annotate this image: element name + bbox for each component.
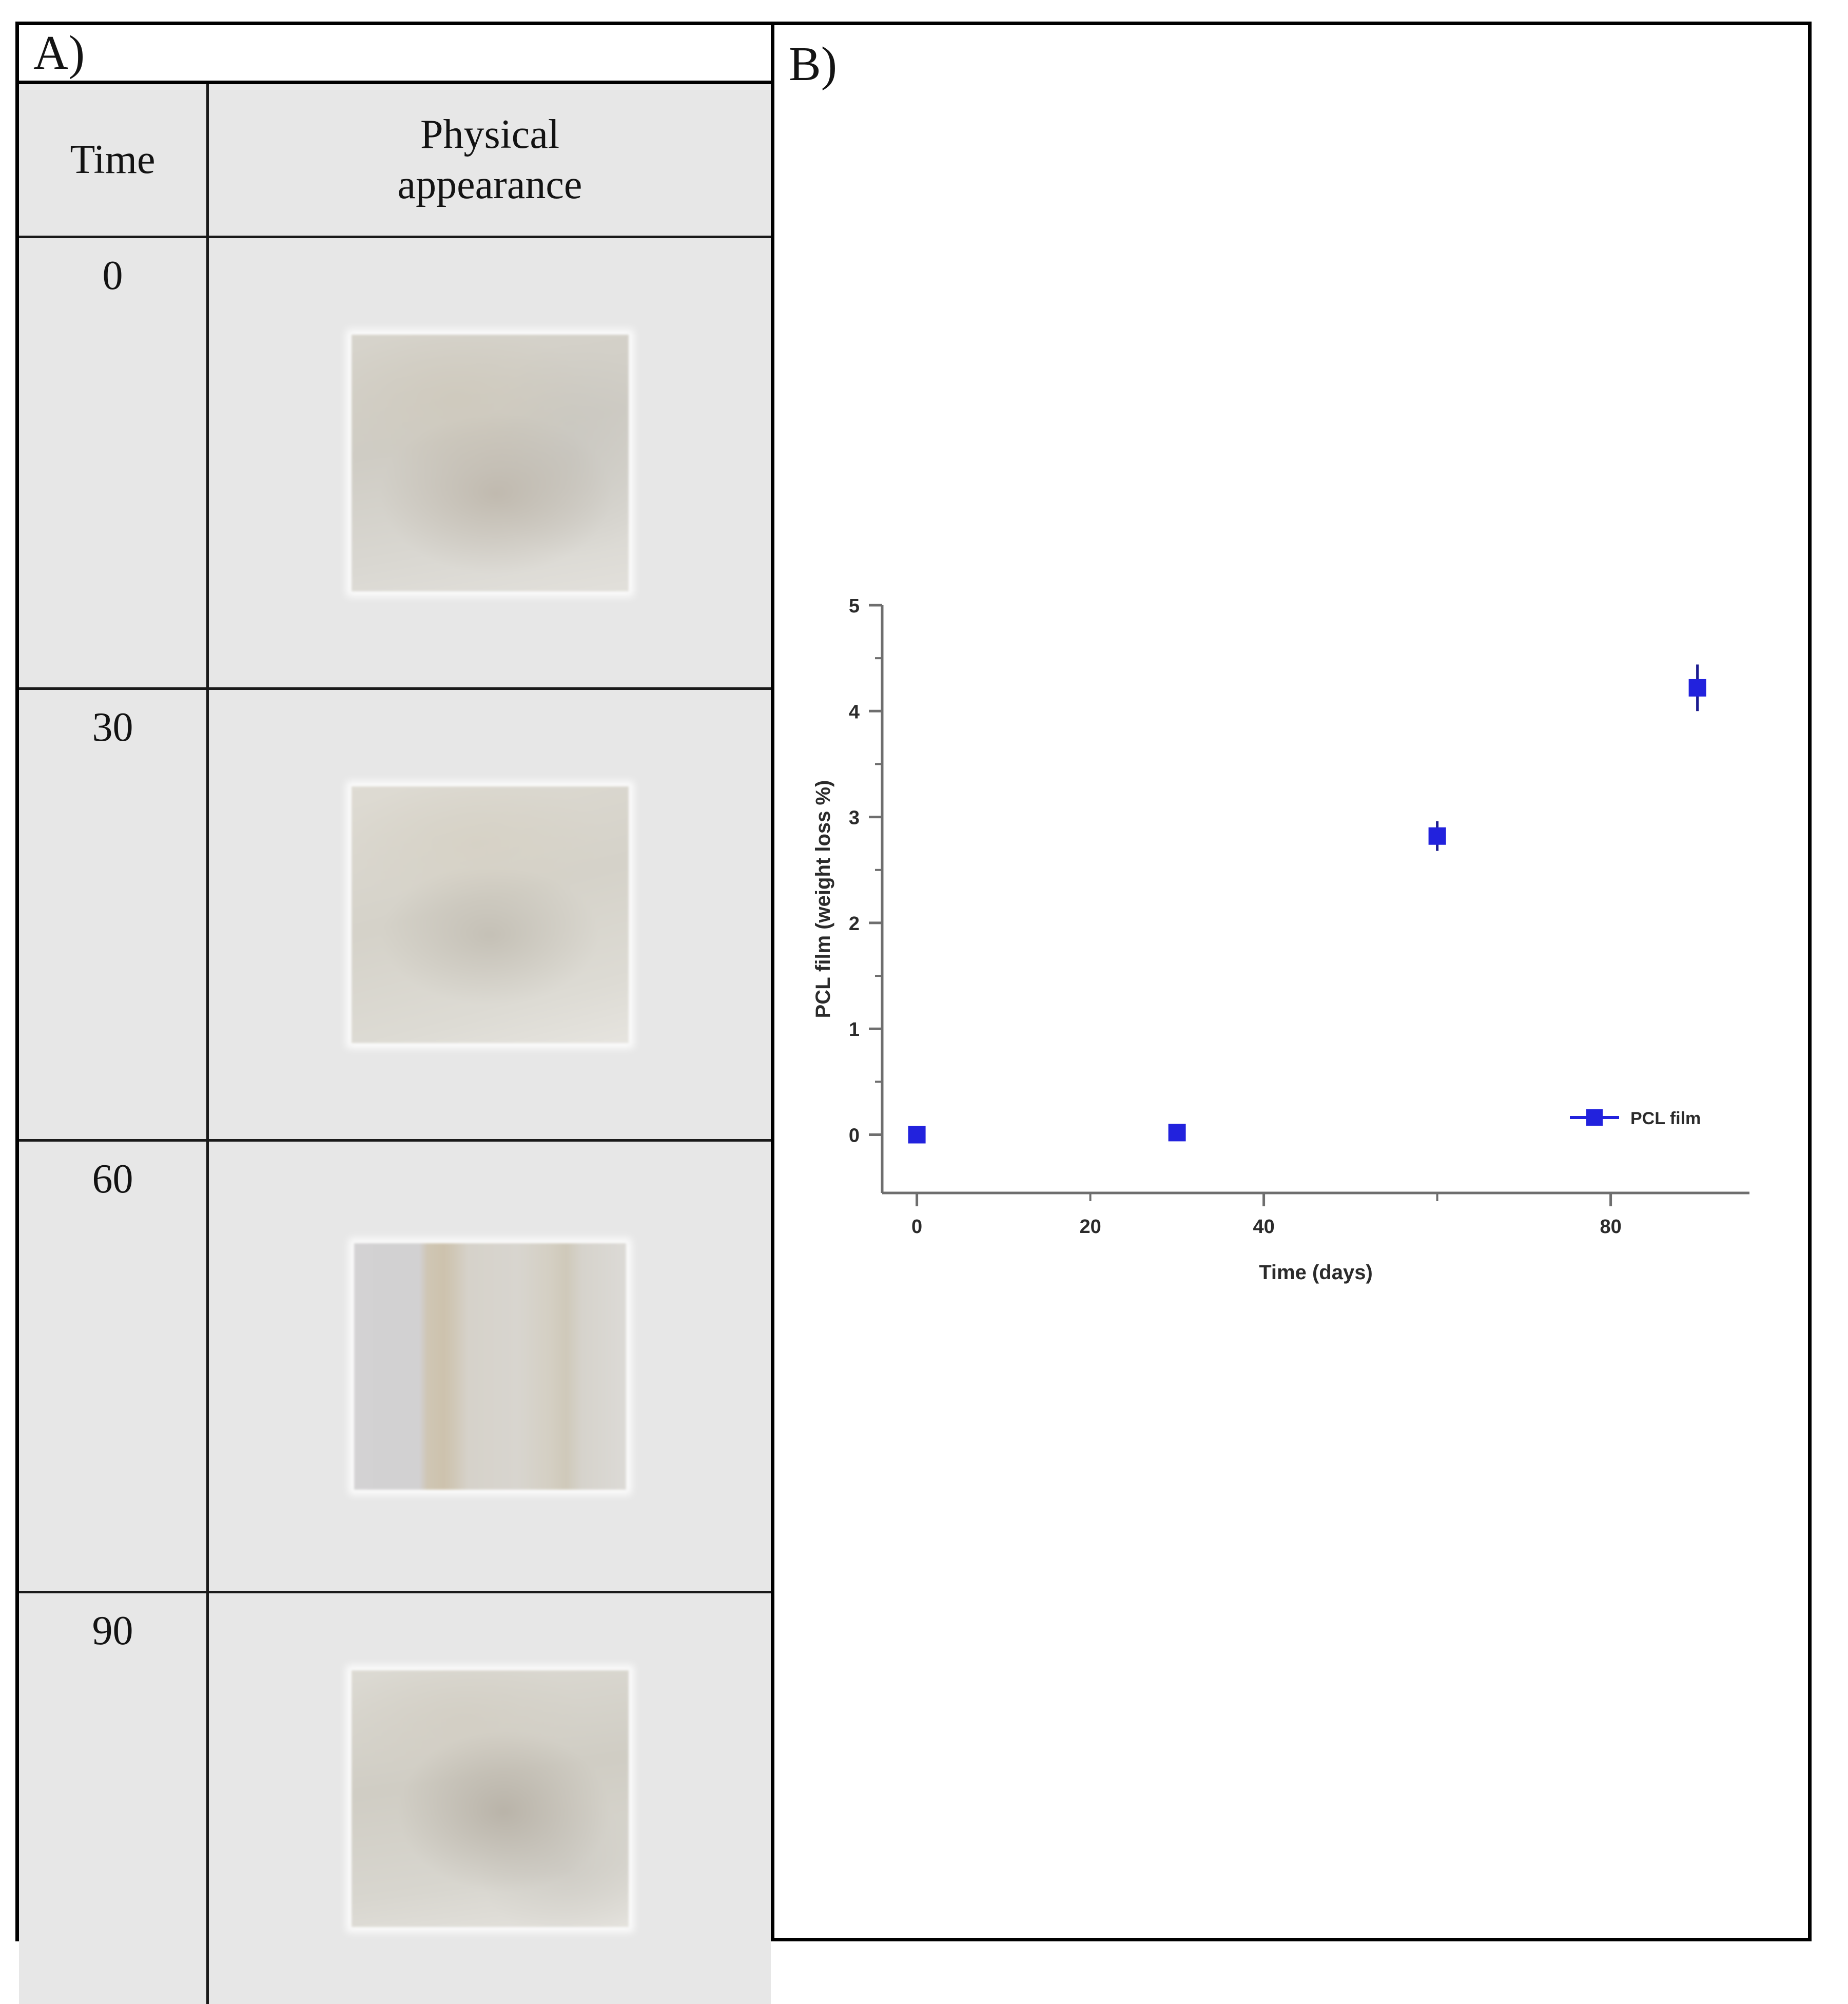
x-tick-label: 0 xyxy=(911,1216,922,1238)
table-row: 30 xyxy=(19,690,771,1142)
cell-time-value: 60 xyxy=(19,1142,209,1591)
cell-physical-appearance xyxy=(209,1593,771,2004)
table-row: 60 xyxy=(19,1142,771,1593)
panel-a: A) Time Physical appearance 0 30 xyxy=(19,25,774,1938)
physical-appearance-table: Time Physical appearance 0 30 60 xyxy=(19,84,771,2004)
table-row: 90 xyxy=(19,1593,771,2004)
chart-svg: 0123450204080Time (days)PCL film (weight… xyxy=(805,585,1765,1314)
pcl-film-photo-day-60 xyxy=(354,1243,626,1490)
data-point-marker xyxy=(908,1126,926,1144)
cell-time-value: 90 xyxy=(19,1593,209,2004)
panel-b: B) 0123450204080Time (days)PCL film (wei… xyxy=(774,25,1808,1938)
column-header-physical-appearance: Physical appearance xyxy=(209,84,771,236)
legend-marker xyxy=(1586,1109,1603,1126)
y-tick-label: 5 xyxy=(849,595,860,617)
x-tick-label: 20 xyxy=(1079,1216,1101,1238)
cell-physical-appearance xyxy=(209,1142,771,1591)
header-line-1: Physical xyxy=(420,110,559,160)
figure-frame: A) Time Physical appearance 0 30 xyxy=(15,22,1812,1941)
y-tick-label: 3 xyxy=(849,807,860,829)
table-row: 0 xyxy=(19,238,771,690)
cell-time-value: 30 xyxy=(19,690,209,1139)
y-tick-label: 4 xyxy=(849,701,860,723)
y-tick-label: 2 xyxy=(849,913,860,935)
column-header-time: Time xyxy=(19,84,209,236)
x-tick-label: 40 xyxy=(1253,1216,1274,1238)
pcl-film-photo-day-0 xyxy=(352,335,629,591)
x-axis-title: Time (days) xyxy=(1259,1261,1373,1284)
x-tick-label: 80 xyxy=(1600,1216,1621,1238)
weight-loss-chart: 0123450204080Time (days)PCL film (weight… xyxy=(805,585,1765,1314)
y-axis-title: PCL film (weight loss %) xyxy=(812,780,834,1018)
pcl-film-photo-day-30 xyxy=(352,786,629,1043)
cell-physical-appearance xyxy=(209,238,771,687)
data-point-marker xyxy=(1689,679,1706,697)
data-point-marker xyxy=(1169,1124,1186,1141)
y-tick-label: 1 xyxy=(849,1019,860,1040)
cell-time-value: 0 xyxy=(19,238,209,687)
legend-label: PCL film xyxy=(1630,1109,1701,1128)
panel-a-label: A) xyxy=(19,25,771,84)
data-point-marker xyxy=(1429,827,1446,845)
pcl-film-photo-day-90 xyxy=(352,1670,629,1927)
panel-b-label: B) xyxy=(789,36,837,92)
y-tick-label: 0 xyxy=(849,1125,860,1147)
cell-physical-appearance xyxy=(209,690,771,1139)
header-line-2: appearance xyxy=(398,160,582,210)
table-header-row: Time Physical appearance xyxy=(19,84,771,238)
